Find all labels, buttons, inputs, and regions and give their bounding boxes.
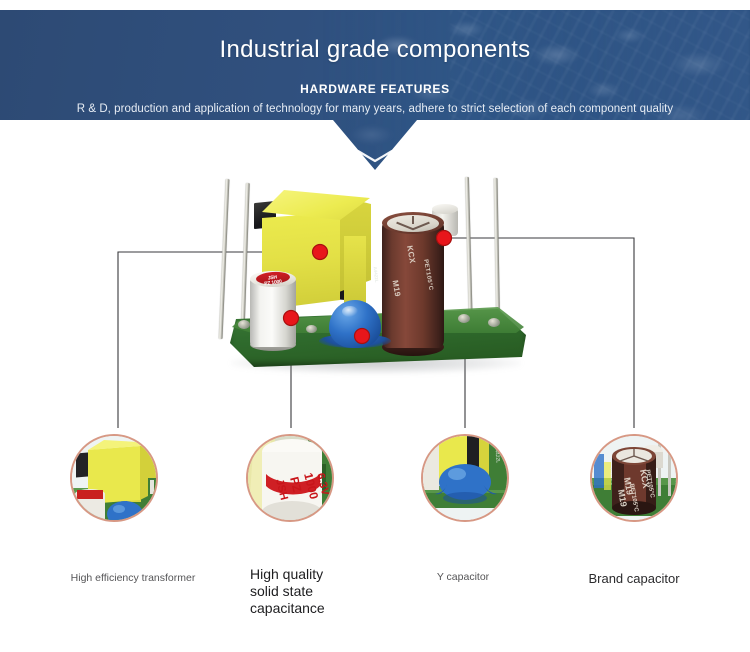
marker-brand-capacitor[interactable]	[437, 231, 452, 246]
callout-image-brand-capacitor: HG20-5V1A KCX PET105°C M19 PET105°C M19	[590, 434, 678, 522]
callout-image-solid-state-capacitor: JSH PZ 1000 6.3V	[246, 434, 334, 522]
callout-image-transformer	[70, 434, 158, 522]
callout-image-y-capacitor: A4422L	[421, 434, 509, 522]
callout-label-line-1: High quality	[250, 566, 380, 583]
marker-solid-state-capacitor[interactable]	[284, 311, 299, 326]
callout-circle-high-efficiency-transformer[interactable]	[70, 434, 158, 522]
callout-label-y-capacitor: Y capacitor	[400, 570, 526, 584]
callout-label-brand-capacitor: Brand capacitor	[566, 571, 702, 587]
callout-label-line-2: solid state	[250, 583, 380, 600]
callout-circle-y-capacitor[interactable]: A4422L	[421, 434, 509, 522]
product-infographic-page: Industrial grade components HARDWARE FEA…	[0, 0, 750, 652]
component-markers	[0, 0, 750, 652]
callout-label-high-efficiency-transformer: High efficiency transformer	[40, 571, 226, 585]
marker-transformer[interactable]	[313, 245, 328, 260]
callout-circle-brand-capacitor[interactable]: HG20-5V1A KCX PET105°C M19 PET105°C M19	[590, 434, 678, 522]
marker-y-capacitor[interactable]	[355, 329, 370, 344]
callout-circle-high-quality-solid-state-capacitance[interactable]: JSH PZ 1000 6.3V	[246, 434, 334, 522]
callout-label-line-3: capacitance	[250, 600, 380, 617]
callout-label-high-quality-solid-state-capacitance: High quality solid state capacitance	[250, 566, 380, 617]
